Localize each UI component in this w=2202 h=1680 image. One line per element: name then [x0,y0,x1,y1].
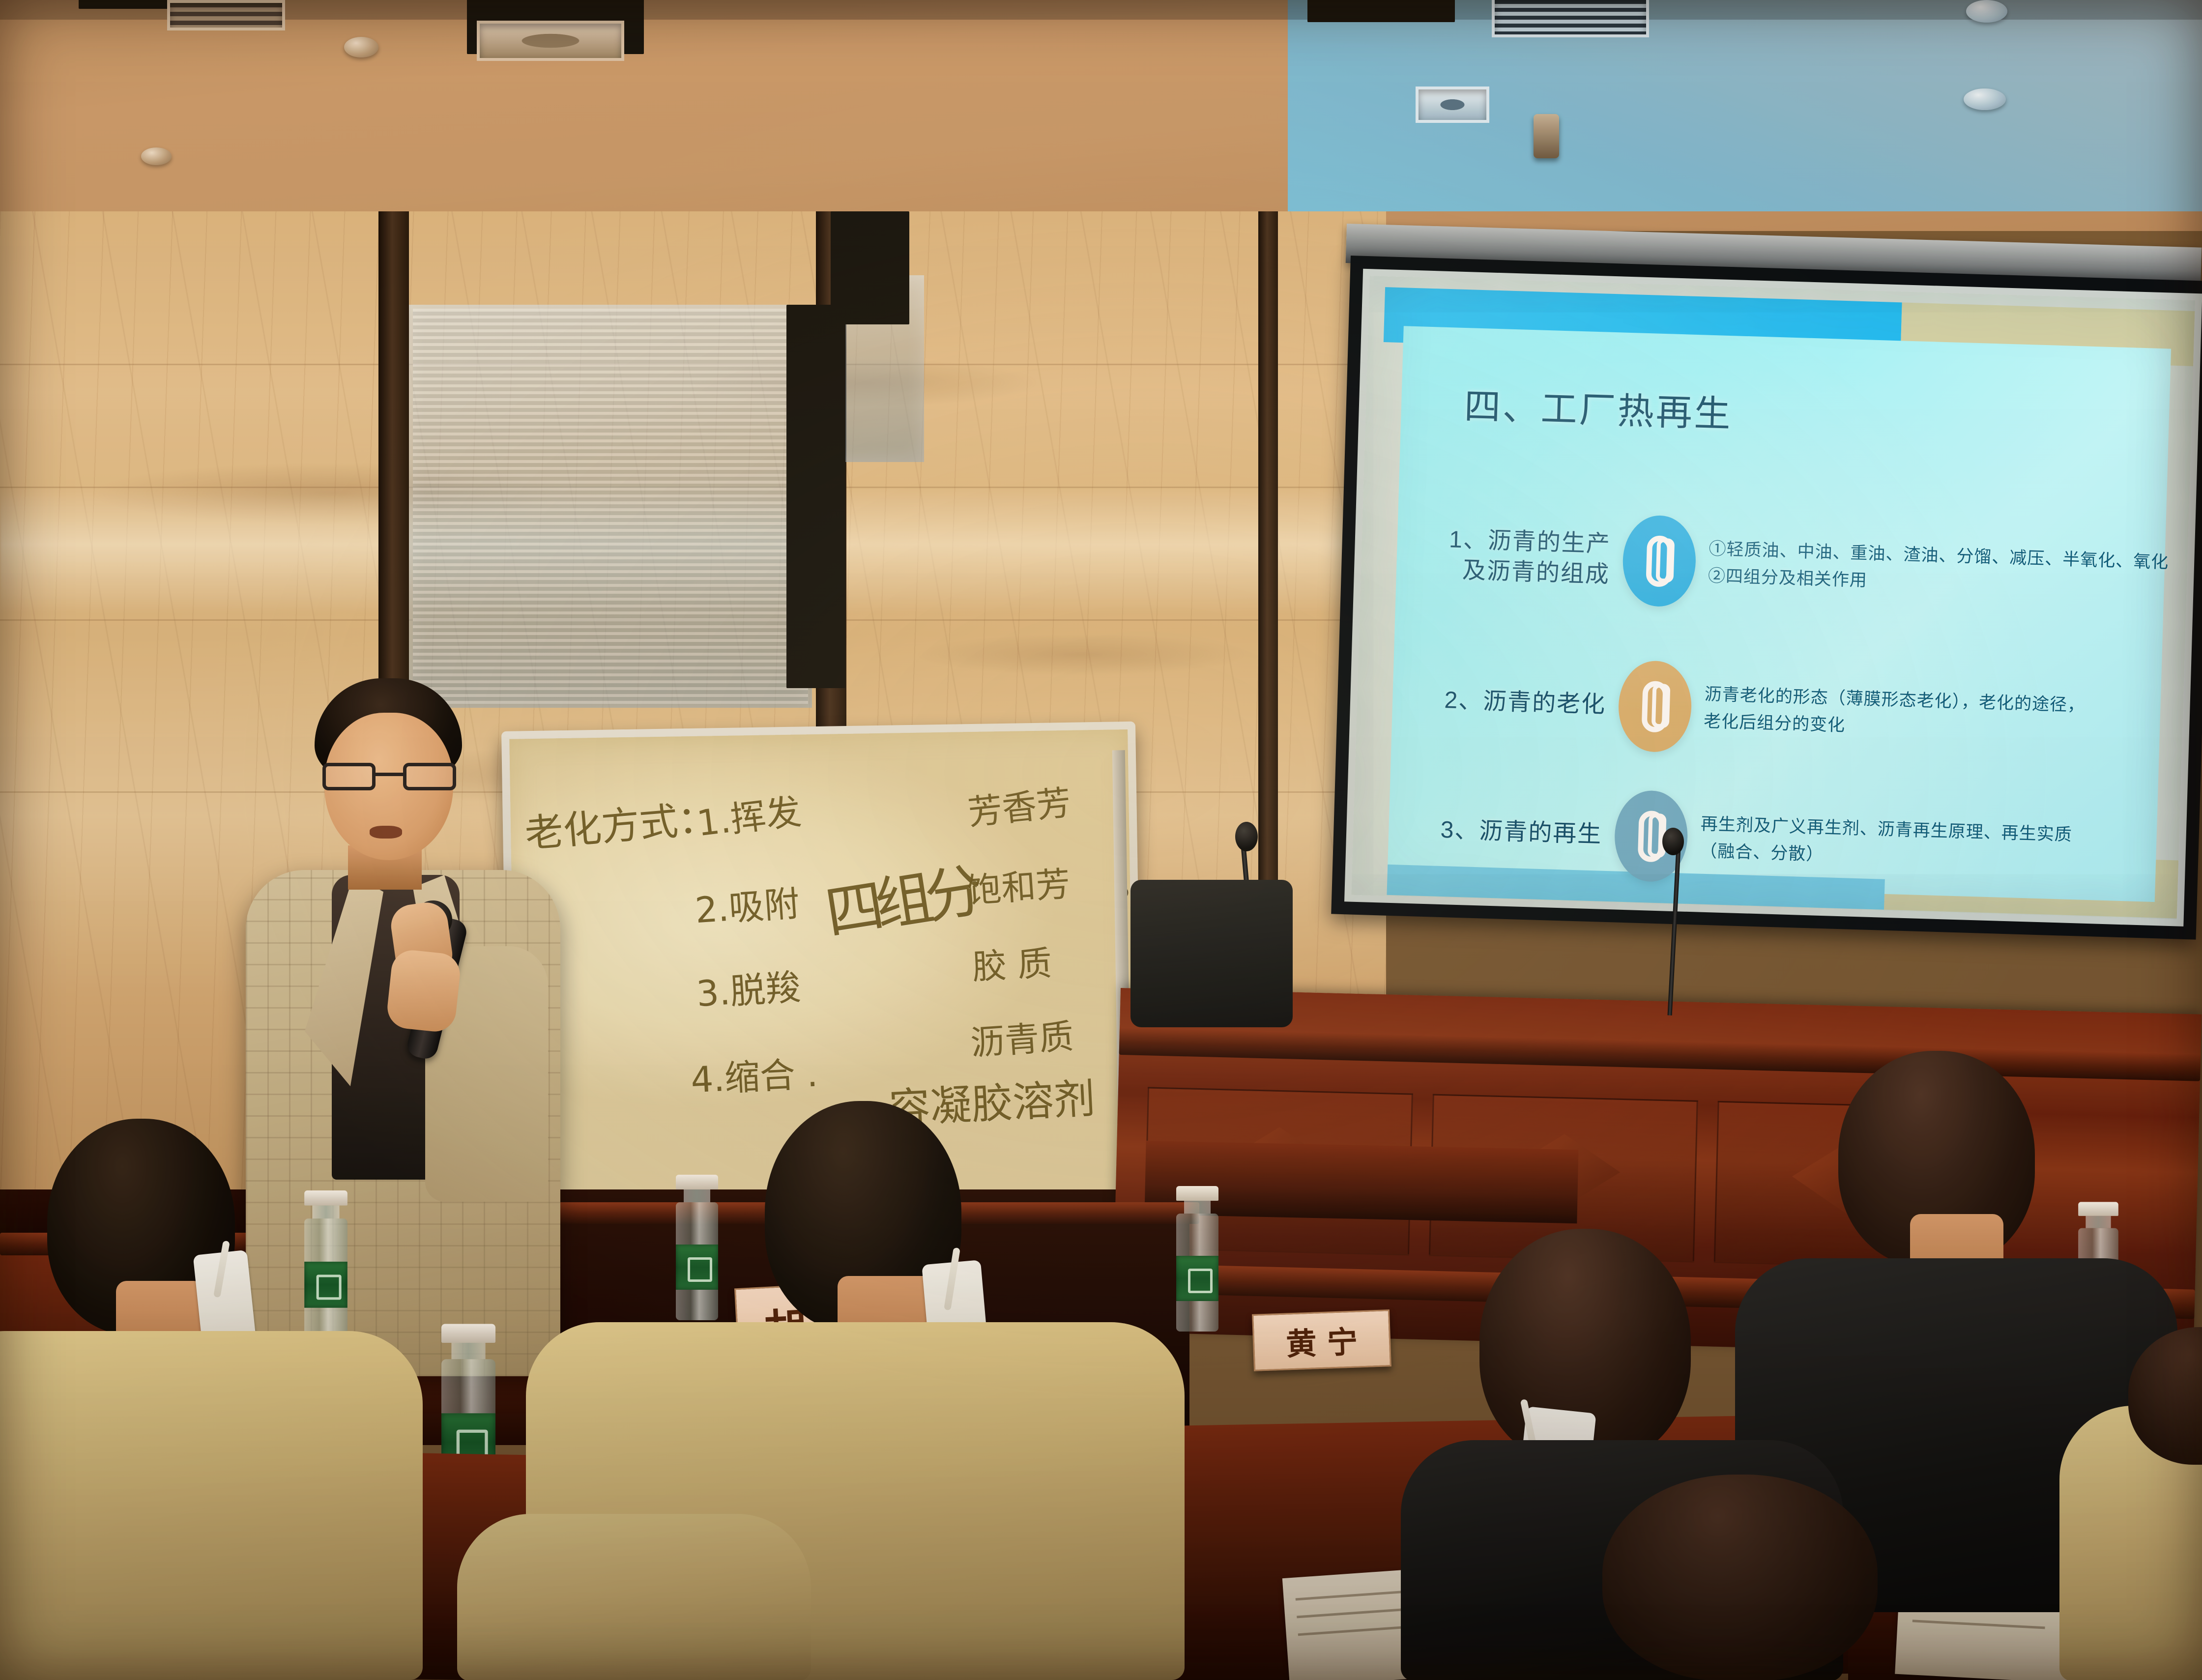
eyeglass-lens-right [403,763,456,790]
dark-column-top [831,211,909,324]
whiteboard-right-2: 饱和芳 [965,856,1072,913]
bottle-body [1176,1214,1218,1332]
paper-text-line [1912,1620,2045,1629]
water-bottle [304,1190,348,1339]
projection-screen: 四、工厂热再生 1、沥青的生产 及沥青的组成 ①轻质油、中油、重油、渣油、分馏、… [1331,256,2202,940]
slide-row-2: 2、沥青的老化 沥青老化的形态（薄膜形态老化），老化的途径， 老化后组分的变化 [1443,655,2086,765]
whiteboard-right-4: 沥青质 [969,1009,1075,1065]
eyeglasses-icon [322,763,456,790]
paperclip-glyph [1646,535,1673,587]
air-vent-icon [167,0,285,30]
smoke-detector-icon [1966,0,2007,23]
whiteboard-right-1: 芳香芳 [965,775,1073,835]
whiteboard-item-3: 3.脱羧 [695,958,802,1016]
air-vent-icon [1492,0,1649,37]
glass-partition [409,305,812,708]
bottle-cap [441,1324,495,1343]
air-vent-icon [477,21,624,61]
nameplate-huangning-text: 黄 宁 [1285,1317,1359,1363]
paperclip-icon [1622,515,1697,608]
bottle-label [676,1245,718,1290]
bottle-body [304,1218,348,1339]
slide-title: 四、工厂热再生 [1464,377,1734,437]
ceiling-shadow-band [0,0,2202,20]
presentation-slide: 四、工厂热再生 1、沥青的生产 及沥青的组成 ①轻质油、中油、重油、渣油、分馏、… [1351,276,2195,919]
water-bottle [1176,1186,1218,1332]
bottle-cap [2078,1202,2118,1216]
slide-row-1-label: 1、沥青的生产 及沥青的组成 [1447,524,1611,590]
bottle-cap [304,1190,348,1206]
bottle-label [304,1262,348,1308]
whiteboard-right-3: 胶 质 [971,936,1053,989]
slide-row-2-label: 2、沥青的老化 [1443,685,1606,720]
slide-row-2-desc: 沥青老化的形态（薄膜形态老化），老化的途径， 老化后组分的变化 [1703,681,2085,746]
bottle-neck [451,1343,485,1359]
smoke-detector-icon [141,147,172,165]
paperclip-glyph [1642,681,1669,732]
eyeglass-bridge [376,773,403,776]
desk-top-rail [1119,1027,2201,1081]
screen-surface: 四、工厂热再生 1、沥青的生产 及沥青的组成 ①轻质油、中油、重油、渣油、分馏、… [1344,269,2202,927]
microphone-capsule-icon [1235,822,1258,851]
nameplate-huangning: 黄 宁 [1252,1309,1391,1371]
chair-back [1130,880,1293,1027]
air-vent-icon [1416,87,1489,123]
bottle-label [1176,1256,1218,1301]
ceiling-speaker-icon [1534,114,1559,158]
audience-head [1602,1475,1878,1680]
bottle-neck [684,1189,710,1202]
slide-row-3: 3、沥青的再生 再生剂及广义再生剂、沥青再生原理、再生实质 （融合、分散） [1439,784,2073,894]
bottle-neck [1184,1201,1211,1214]
bottle-neck [2086,1216,2111,1228]
whiteboard-item-2: 2.吸附 [693,874,801,933]
smoke-detector-icon [1964,88,2006,110]
presenter-mouth [370,826,402,839]
audience-torso [457,1514,811,1680]
bottle-cap [676,1175,718,1189]
slide-row-3-label: 3、沥青的再生 [1440,815,1603,850]
paperclip-glyph [1638,810,1665,862]
presenter-hand-lower [385,948,462,1034]
bottle-cap [1176,1186,1218,1201]
ceiling-dark-recess-2 [79,0,172,9]
whiteboard-item-4: 4.缩合 . [690,1045,819,1103]
whiteboard-center-note: 四组分 [819,844,981,950]
slide-row-1-desc: ①轻质油、中油、重油、渣油、分馏、减压、半氧化、氧化 ②四组分及相关作用 [1708,536,2169,603]
dark-column [786,305,845,688]
microphone-capsule-icon [1662,828,1684,855]
ceiling-dark-recess-3 [1307,0,1455,22]
window-blinds [413,309,808,704]
slide-row-3-desc: 再生剂及广义再生剂、沥青再生原理、再生实质 （融合、分散） [1700,811,2073,875]
water-bottle [676,1175,718,1320]
eyeglass-lens-left [322,763,376,790]
smoke-detector-icon [344,37,378,58]
audience-torso [0,1331,423,1680]
bottle-body [676,1202,718,1320]
conference-room-photo: 四、工厂热再生 1、沥青的生产 及沥青的组成 ①轻质油、中油、重油、渣油、分馏、… [0,0,2202,1680]
bottle-neck [312,1206,339,1219]
presenter [231,678,585,1376]
paperclip-icon [1617,660,1692,753]
